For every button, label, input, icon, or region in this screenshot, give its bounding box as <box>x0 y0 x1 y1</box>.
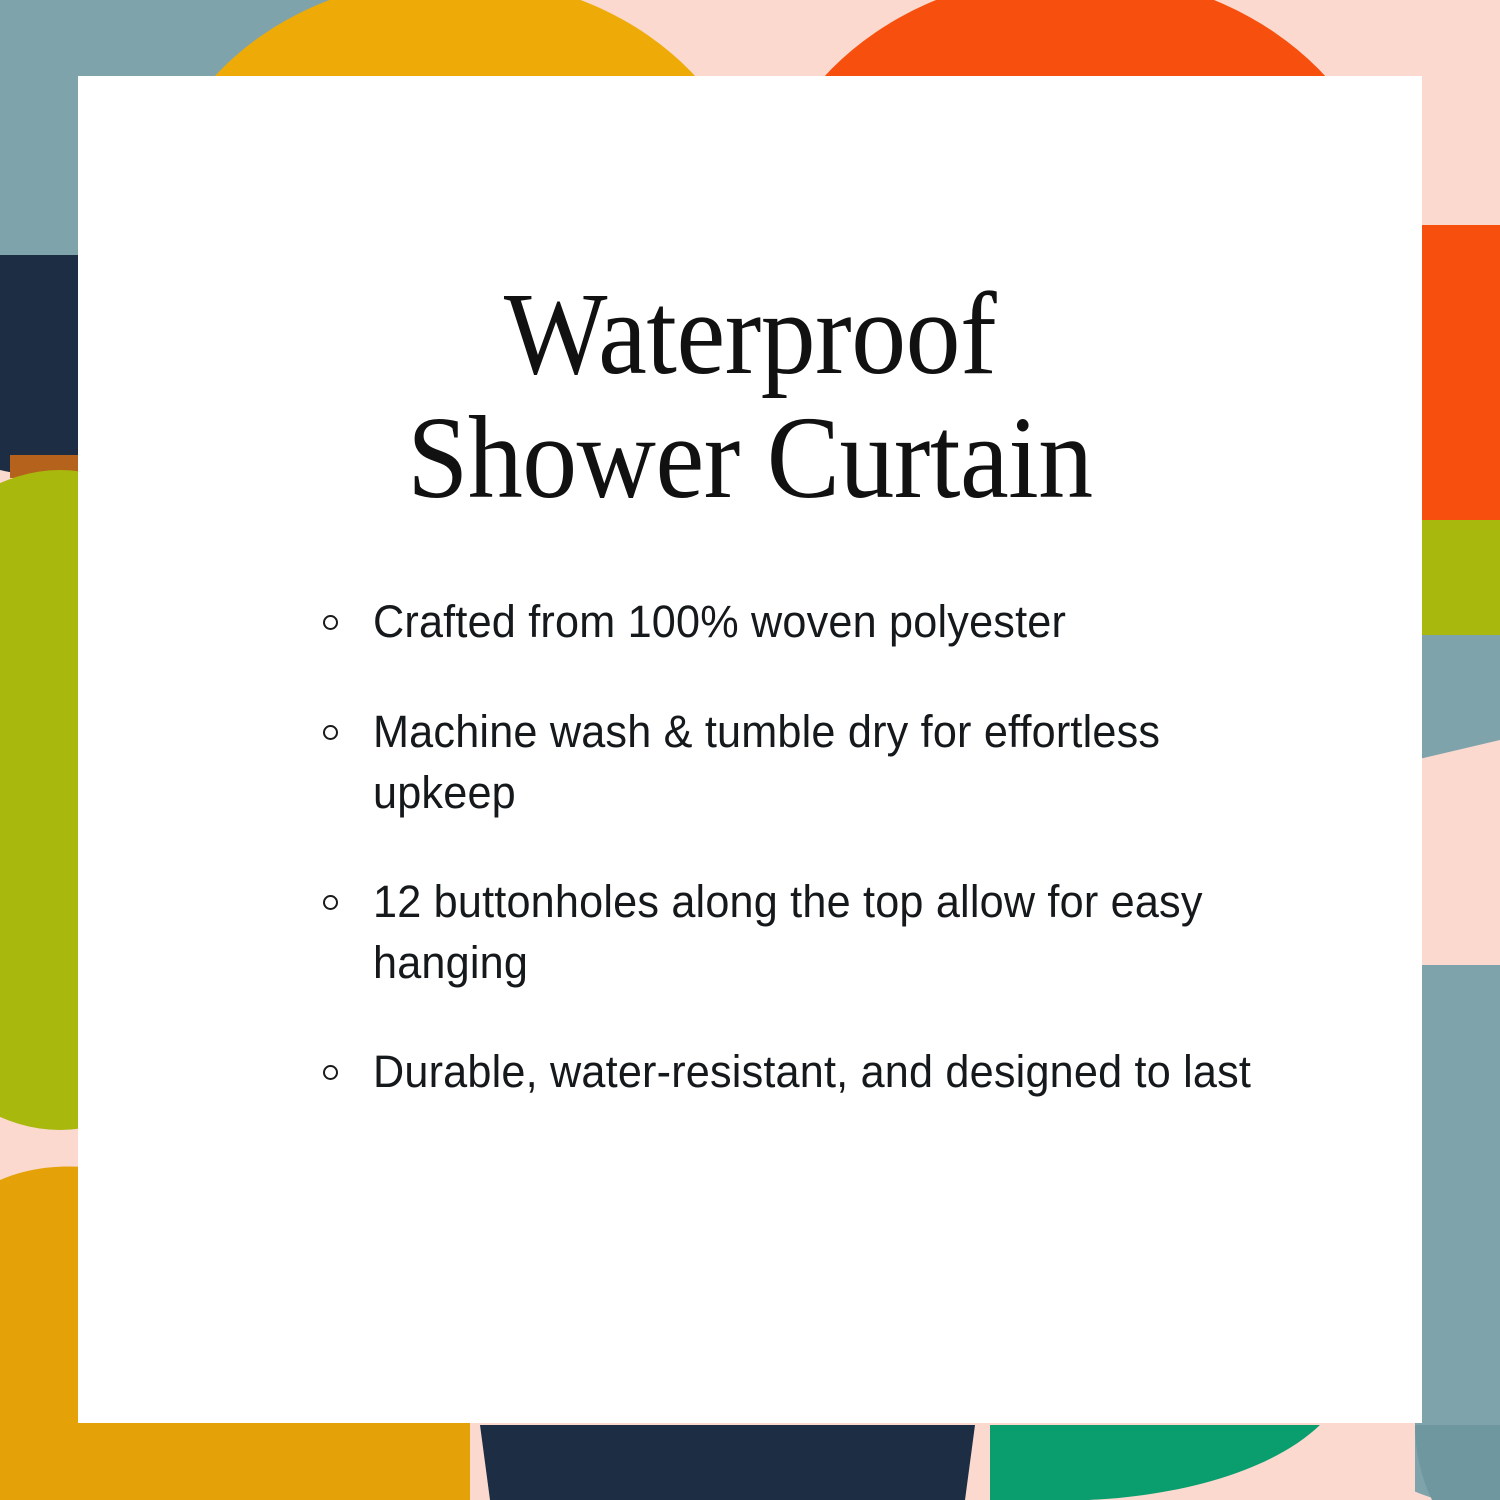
title-line-2: Shower Curtain <box>125 396 1375 520</box>
shape-slate-right-lower <box>1415 965 1500 1500</box>
bullet-circle-icon <box>323 1065 338 1080</box>
page-title: Waterproof Shower Curtain <box>78 272 1422 520</box>
bullet-circle-icon <box>323 725 338 740</box>
shape-orange-right-fill <box>1415 225 1500 525</box>
list-item: Crafted from 100% woven polyester <box>323 591 1343 653</box>
shape-navy-bottom-center <box>480 1425 975 1500</box>
list-item: Durable, water-resistant, and designed t… <box>323 1041 1343 1103</box>
list-item: 12 buttonholes along the top allow for e… <box>323 871 1343 993</box>
feature-text: 12 buttonholes along the top allow for e… <box>373 871 1304 993</box>
shape-amber-band-bottom <box>0 1420 470 1500</box>
feature-bullet-list: Crafted from 100% woven polyester Machin… <box>323 591 1343 1103</box>
title-line-1: Waterproof <box>125 272 1375 396</box>
feature-text: Durable, water-resistant, and designed t… <box>373 1041 1304 1102</box>
feature-text: Crafted from 100% woven polyester <box>373 591 1304 652</box>
product-feature-card-image: Waterproof Shower Curtain Crafted from 1… <box>0 0 1500 1500</box>
shape-slate-bottom-right <box>1415 1425 1500 1500</box>
shape-pink-right <box>1415 740 1500 975</box>
bullet-circle-icon <box>323 615 338 630</box>
feature-text: Machine wash & tumble dry for effortless… <box>373 701 1304 823</box>
bullet-circle-icon <box>323 895 338 910</box>
list-item: Machine wash & tumble dry for effortless… <box>323 701 1343 823</box>
white-content-card: Waterproof Shower Curtain Crafted from 1… <box>78 76 1422 1423</box>
